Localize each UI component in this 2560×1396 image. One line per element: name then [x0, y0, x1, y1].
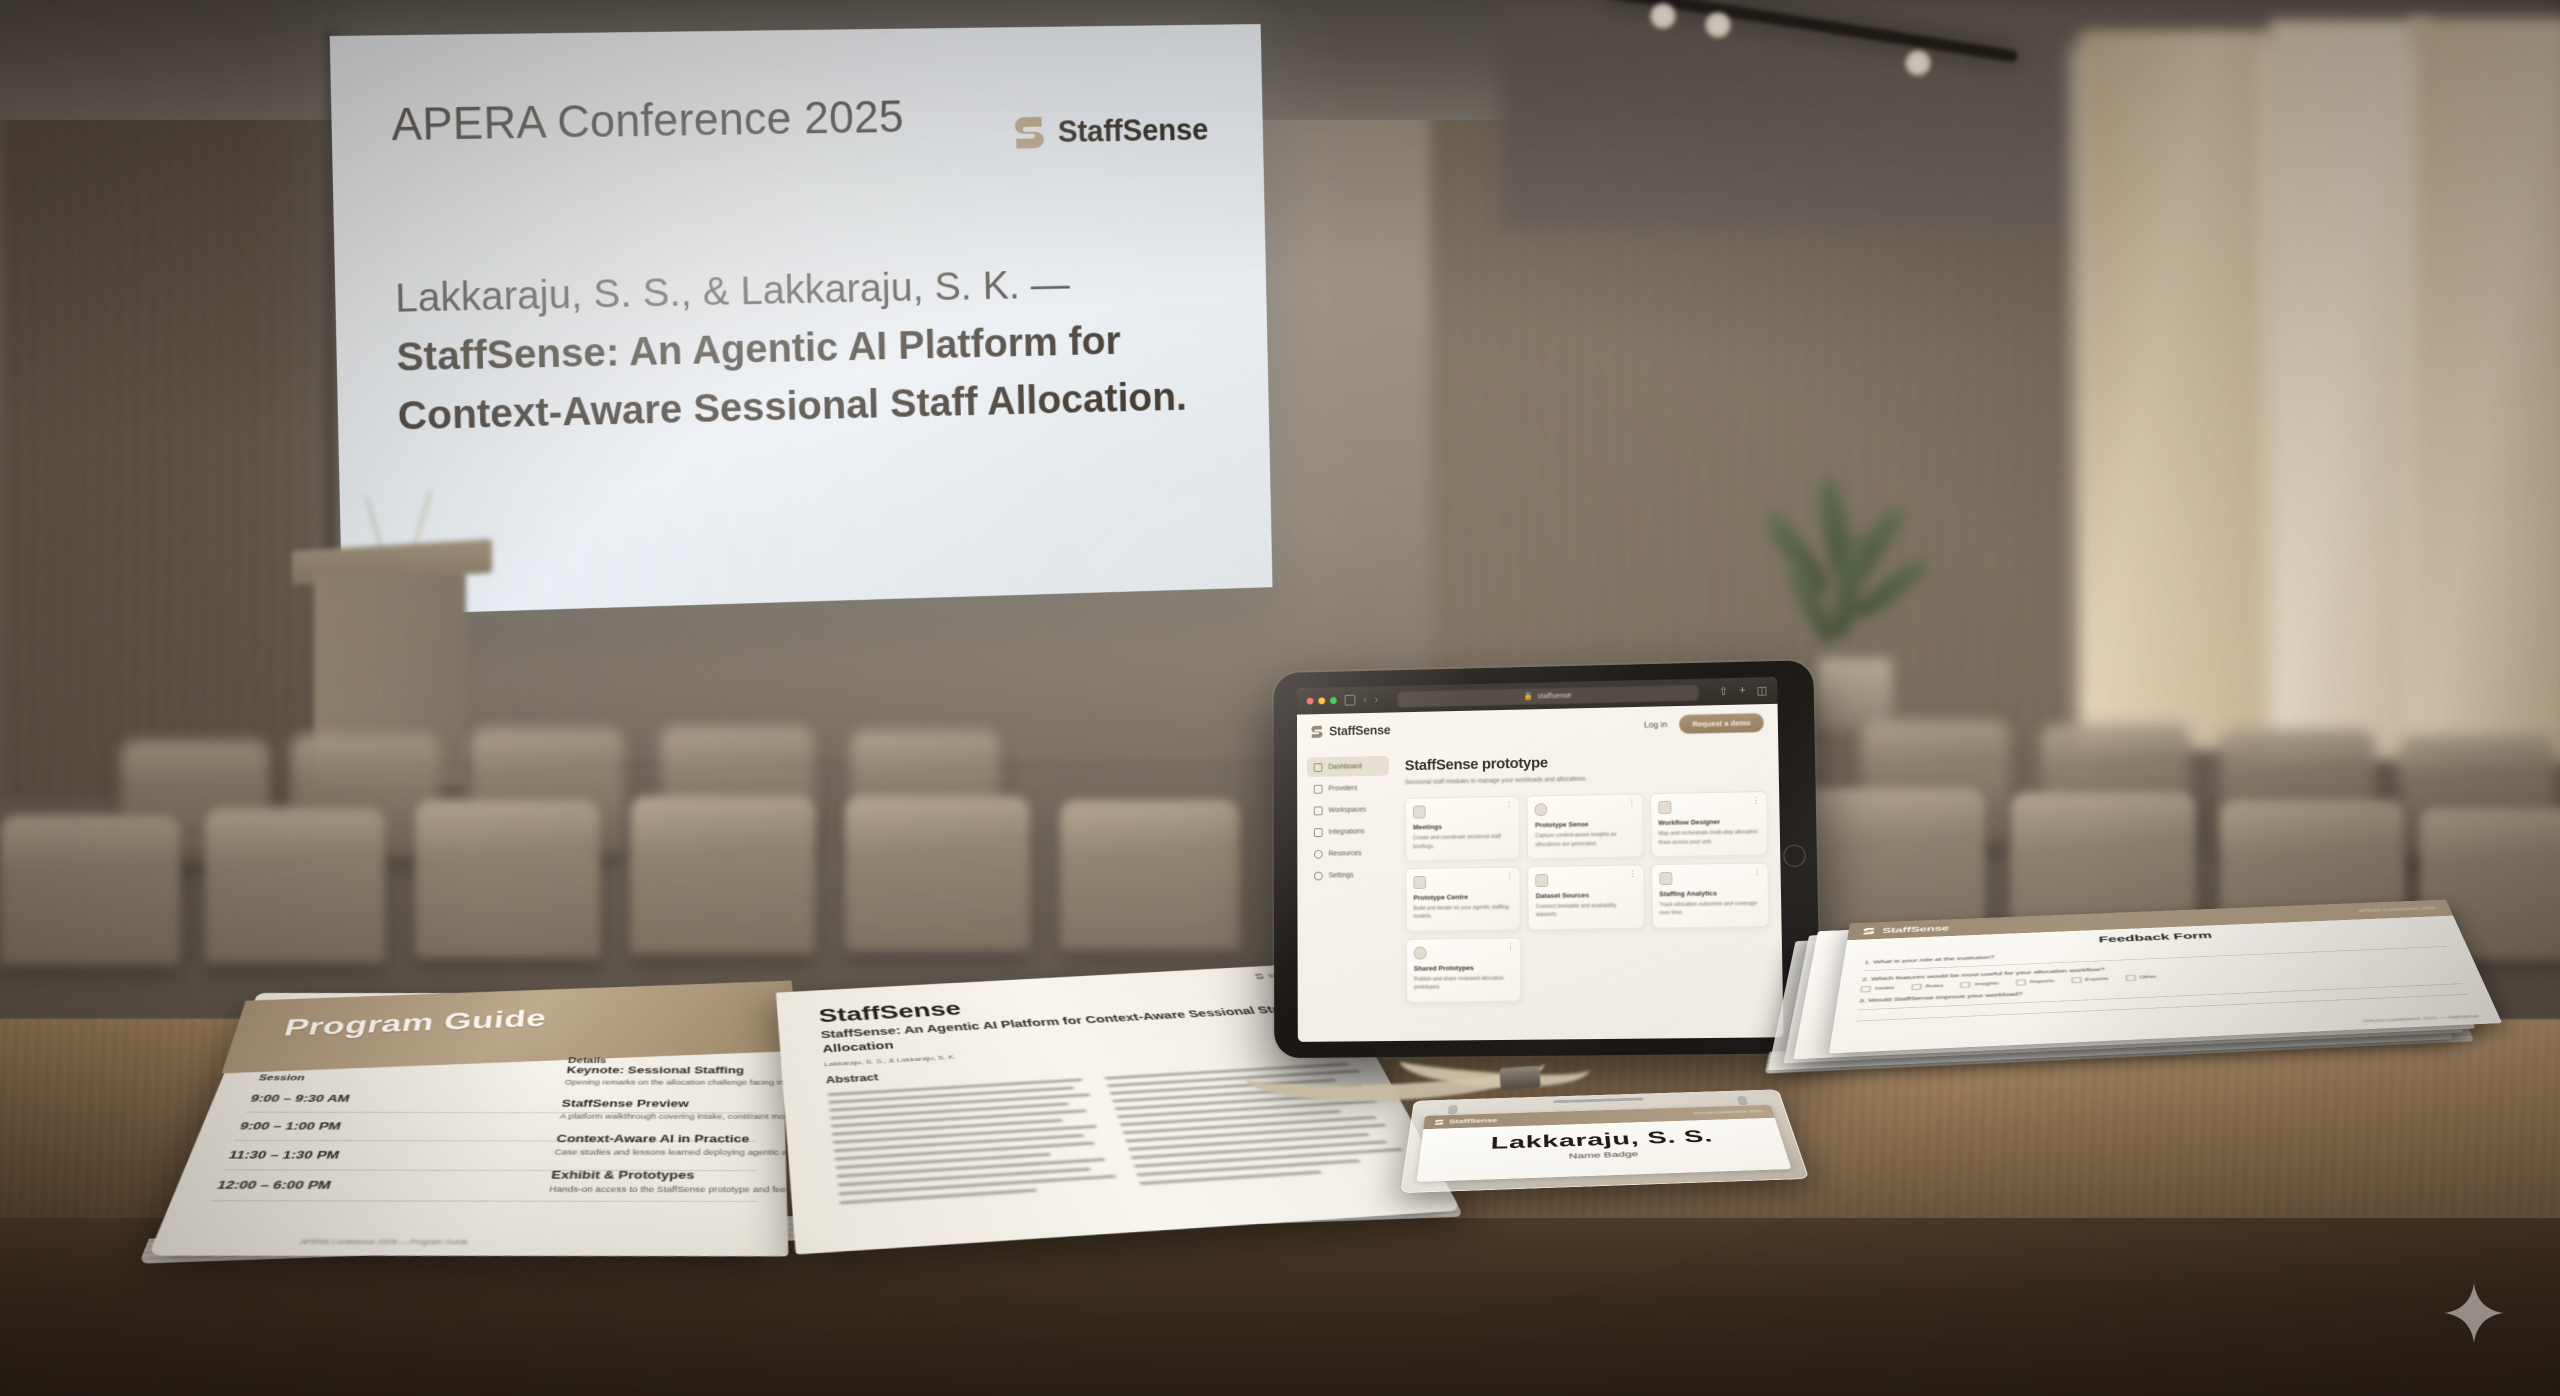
- badge-slot: [1553, 1098, 1644, 1104]
- box-icon: [1413, 876, 1426, 889]
- option-label: Reports: [2030, 979, 2054, 984]
- sparkle-icon: [2443, 1282, 2505, 1344]
- browser-toolbar: ⇧ + ◫: [1719, 684, 1768, 698]
- badge-slot-left: [1448, 1105, 1458, 1115]
- checkbox-icon[interactable]: [1961, 982, 1971, 988]
- kebab-menu-icon[interactable]: ⋮: [1628, 802, 1636, 807]
- option-label: Other: [2139, 975, 2157, 980]
- kebab-menu-icon[interactable]: ⋮: [1629, 873, 1637, 878]
- staffsense-s-logo: [1862, 926, 1875, 935]
- panel-glow-2: [2262, 45, 2272, 775]
- question-body: What is your role at the institution?: [1873, 954, 1994, 964]
- card-desc: Capture context-aware insights as alloca…: [1535, 831, 1635, 849]
- track-spot-1: [1650, 3, 1676, 29]
- sidebar-item-label: Providers: [1328, 785, 1357, 792]
- module-card[interactable]: ⋮ Prototype Sense Capture context-aware …: [1527, 794, 1644, 860]
- paper-column-left: [827, 1078, 1123, 1210]
- question-number: 2.: [1862, 976, 1870, 982]
- layers-icon: [1314, 806, 1323, 815]
- kebab-menu-icon[interactable]: ⋮: [1506, 874, 1514, 879]
- card-desc: Map and orchestrate multi-step allocatio…: [1658, 829, 1759, 848]
- sidebar-item-label: Dashboard: [1328, 763, 1362, 771]
- book-icon: [1314, 849, 1323, 858]
- app-sidebar: Dashboard Providers Workspaces: [1297, 748, 1398, 1042]
- question-body: Would StaffSense improve your workload?: [1868, 991, 2023, 1003]
- card-title: Workflow Designer: [1658, 819, 1759, 828]
- kebab-menu-icon[interactable]: ⋮: [1505, 804, 1513, 809]
- tablet-body: ‹ › 🔒 staffsense ⇧ + ◫: [1274, 660, 1821, 1058]
- seat: [0, 815, 180, 965]
- schedule-time: 9:00 – 1:00 PM: [238, 1120, 343, 1132]
- option-label: Exports: [2085, 977, 2109, 982]
- option-label: Rules: [1925, 984, 1943, 989]
- name-badge[interactable]: StaffSense APERA Conference 2025 Lakkara…: [1400, 1089, 1809, 1193]
- slide-body: Lakkaraju, S. S., & Lakkaraju, S. K. — S…: [395, 254, 1213, 443]
- track-spot-3: [1905, 50, 1931, 76]
- abstract-heading: Abstract: [825, 1072, 879, 1086]
- sidebar-item-label: Settings: [1329, 872, 1354, 879]
- badge-slot-right: [1737, 1096, 1749, 1105]
- tablet-screen[interactable]: ‹ › 🔒 staffsense ⇧ + ◫: [1297, 677, 1784, 1042]
- sidebar-item-label: Resources: [1329, 850, 1362, 857]
- sidebar-toggle-icon[interactable]: [1345, 695, 1356, 706]
- panel-glow-3: [2404, 45, 2414, 775]
- option-checkbox[interactable]: Other: [2125, 974, 2157, 981]
- module-card[interactable]: ⋮ Shared Prototypes Publish and share re…: [1406, 937, 1522, 1002]
- plug-icon: [1314, 828, 1323, 837]
- wall-drape-left: [0, 0, 340, 800]
- page-title: StaffSense prototype: [1405, 750, 1767, 774]
- calendar-icon: [1413, 806, 1426, 819]
- kebab-menu-icon[interactable]: ⋮: [1753, 871, 1761, 876]
- staffsense-s-logo: [1013, 113, 1046, 153]
- form-footer: APERA Conference 2025 — StaffSense: [2363, 1015, 2481, 1024]
- chevron-right-icon[interactable]: ›: [1375, 694, 1379, 706]
- page-subtitle: Sessional staff modules to manage your w…: [1405, 771, 1767, 787]
- option-checkbox[interactable]: Rules: [1911, 983, 1943, 990]
- badge-brand-text: StaffSense: [1449, 1117, 1498, 1125]
- booklet-left-page: Program Guide Session 9:00 – 9:30 AM 9:0…: [148, 993, 788, 1256]
- sidebar-item-label: Integrations: [1329, 828, 1365, 836]
- checkbox-icon[interactable]: [2125, 975, 2135, 981]
- card-title: Shared Prototypes: [1414, 964, 1514, 972]
- option-checkbox[interactable]: Reports: [2016, 978, 2054, 985]
- module-card[interactable]: ⋮ Workflow Designer Map and orchestrate …: [1650, 791, 1768, 857]
- sidebar-item-label: Workspaces: [1328, 806, 1366, 814]
- option-label: Insights: [1975, 981, 1999, 986]
- checkbox-icon[interactable]: [1911, 984, 1921, 990]
- login-link[interactable]: Log in: [1644, 719, 1667, 729]
- card-title: Staffing Analytics: [1659, 890, 1761, 899]
- gear-icon: [1314, 871, 1323, 880]
- maximize-icon[interactable]: [1330, 697, 1337, 704]
- sidebar-item-settings[interactable]: Settings: [1307, 865, 1390, 886]
- lanyard-clip: [1499, 1066, 1540, 1091]
- form-brand-text: StaffSense: [1882, 923, 1949, 934]
- card-title: Meetings: [1413, 823, 1512, 832]
- card-desc: Create and coordinate sessional staff br…: [1413, 833, 1512, 851]
- option-checkbox[interactable]: Insights: [1961, 981, 1999, 988]
- seat: [845, 796, 1030, 951]
- grid-icon: [1314, 763, 1323, 772]
- staffsense-s-logo: [1434, 1119, 1444, 1126]
- address-bar-text: staffsense: [1538, 691, 1572, 701]
- wall-panel-3: [2410, 18, 2560, 763]
- panel-glow-1: [2072, 45, 2082, 775]
- option-label: Intake: [1875, 986, 1895, 991]
- close-icon[interactable]: [1307, 698, 1314, 705]
- card-desc: Connect timetable and availability datas…: [1536, 902, 1637, 920]
- chart-icon: [1659, 872, 1672, 885]
- sidebar-item-providers[interactable]: Providers: [1307, 778, 1389, 799]
- sidebar-item-workspaces[interactable]: Workspaces: [1307, 799, 1389, 820]
- card-title: Prototype Centre: [1413, 893, 1512, 901]
- seat: [415, 800, 600, 958]
- projection-screen: APERA Conference 2025 StaffSense Lakkara…: [330, 24, 1273, 616]
- card-desc: Build and iterate on your agentic staffi…: [1413, 903, 1513, 921]
- chevron-left-icon[interactable]: ‹: [1363, 694, 1367, 706]
- card-desc: Track allocation outcomes and coverage o…: [1659, 900, 1761, 918]
- schedule-time: 12:00 – 6:00 PM: [215, 1178, 333, 1191]
- option-checkbox[interactable]: Exports: [2071, 976, 2109, 983]
- seat: [205, 808, 385, 963]
- card-desc: Publish and share reviewed allocation pr…: [1414, 974, 1514, 992]
- track-spot-2: [1705, 12, 1731, 38]
- app-content: StaffSense prototype Sessional staff mod…: [1397, 740, 1784, 1041]
- form-event-text: APERA Conference 2025: [2358, 906, 2437, 913]
- badge-event-text: APERA Conference 2025: [1693, 1110, 1763, 1116]
- sidebar-item-dashboard[interactable]: Dashboard: [1307, 756, 1389, 777]
- schedule-time: 9:00 – 9:30 AM: [249, 1092, 352, 1104]
- question-number: 1.: [1864, 959, 1871, 965]
- checkbox-icon[interactable]: [2016, 980, 2026, 986]
- question-number: 3.: [1859, 998, 1867, 1004]
- tablet-home-button[interactable]: [1783, 845, 1806, 868]
- share-icon[interactable]: ⇧: [1719, 685, 1728, 698]
- app-brand-text: StaffSense: [1329, 723, 1390, 738]
- address-bar[interactable]: 🔒 staffsense: [1398, 684, 1699, 707]
- network-icon: [1314, 784, 1323, 793]
- request-demo-button[interactable]: Request a demo: [1679, 713, 1764, 734]
- sidebar-item-resources[interactable]: Resources: [1307, 843, 1389, 864]
- module-card-grid: ⋮ Meetings Create and coordinate session…: [1405, 791, 1771, 1002]
- app-brand[interactable]: StaffSense: [1311, 722, 1391, 739]
- module-card[interactable]: ⋮ Dataset Sources Connect timetable and …: [1527, 864, 1644, 930]
- schedule-col-session: Session: [257, 1074, 306, 1083]
- checkbox-icon[interactable]: [1860, 986, 1871, 992]
- badge-sleeve: StaffSense APERA Conference 2025 Lakkara…: [1400, 1089, 1809, 1193]
- staffsense-web-app: StaffSense Log in Request a demo Dashboa…: [1297, 704, 1784, 1042]
- module-card[interactable]: ⋮ Staffing Analytics Track allocation ou…: [1651, 862, 1770, 928]
- tablet-device[interactable]: ‹ › 🔒 staffsense ⇧ + ◫: [1274, 660, 1821, 1058]
- staffsense-s-logo: [1311, 724, 1324, 740]
- flow-icon: [1658, 801, 1671, 814]
- checkbox-icon[interactable]: [2071, 977, 2081, 983]
- module-card[interactable]: ⋮ Meetings Create and coordinate session…: [1405, 796, 1521, 861]
- slide-brand-text: StaffSense: [1058, 112, 1209, 150]
- staffsense-s-logo: [1253, 973, 1265, 980]
- module-card[interactable]: ⋮ Prototype Centre Build and iterate on …: [1405, 866, 1521, 931]
- slide-brand-logo: StaffSense: [1013, 110, 1209, 152]
- window-controls[interactable]: [1307, 697, 1337, 705]
- kebab-menu-icon[interactable]: ⋮: [1506, 945, 1514, 950]
- kebab-menu-icon[interactable]: ⋮: [1752, 799, 1760, 804]
- sidebar-item-integrations[interactable]: Integrations: [1307, 821, 1389, 842]
- plus-icon[interactable]: +: [1739, 685, 1746, 698]
- option-checkbox[interactable]: Intake: [1860, 985, 1894, 992]
- sparkle-icon: [1535, 803, 1548, 816]
- app-main: Dashboard Providers Workspaces: [1297, 740, 1784, 1042]
- app-header-actions: Log in Request a demo: [1644, 713, 1764, 735]
- program-guide-footer: APERA Conference 2025 — Program Guide: [299, 1239, 468, 1246]
- lock-icon: 🔒: [1523, 692, 1532, 701]
- share-nodes-icon: [1414, 946, 1427, 959]
- conference-room-scene: APERA Conference 2025 StaffSense Lakkara…: [0, 0, 2560, 1396]
- seat: [630, 796, 815, 954]
- card-title: Dataset Sources: [1536, 892, 1636, 901]
- schedule-time: 11:30 – 1:30 PM: [227, 1148, 341, 1161]
- card-title: Prototype Sense: [1535, 821, 1635, 830]
- database-icon: [1536, 874, 1549, 887]
- seat: [1060, 800, 1240, 950]
- minimize-icon[interactable]: [1318, 697, 1325, 704]
- wall-panel-1: [2080, 30, 2280, 750]
- tabs-icon[interactable]: ◫: [1757, 684, 1768, 697]
- badge-card: StaffSense APERA Conference 2025 Lakkara…: [1417, 1105, 1792, 1182]
